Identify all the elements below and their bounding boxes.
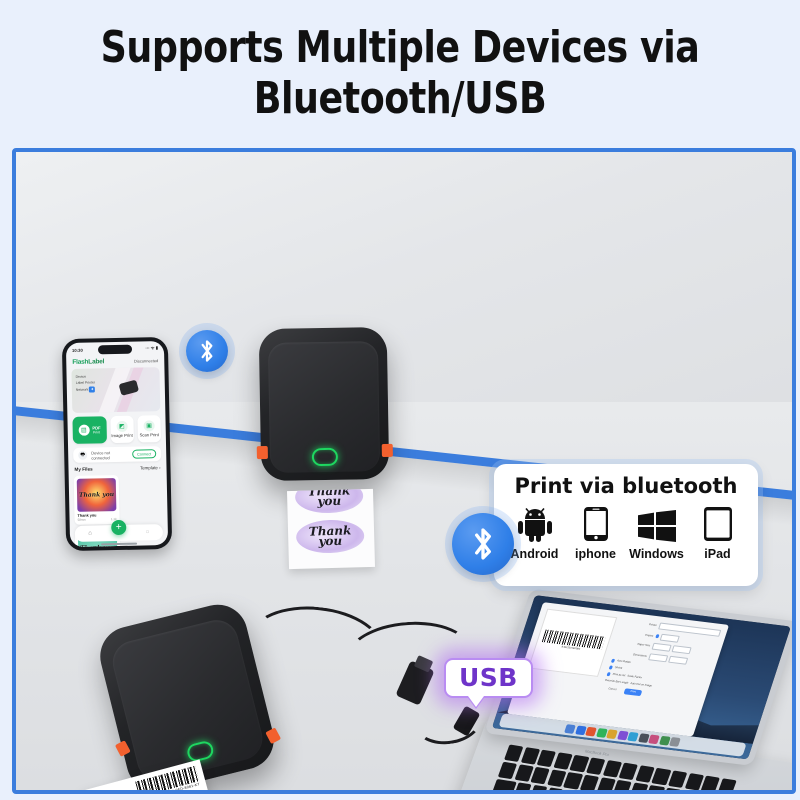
android-label: Android bbox=[511, 547, 559, 561]
app-brand-1: Flash bbox=[72, 358, 88, 365]
copies-input[interactable] bbox=[660, 633, 680, 642]
home-icon[interactable]: ⌂ bbox=[88, 531, 92, 537]
device-windows: Windows bbox=[628, 506, 686, 561]
supported-device-row: Android iphone bbox=[504, 506, 748, 561]
sticker-text: Thank you bbox=[296, 526, 364, 547]
note-left: Override Bar Length bbox=[604, 679, 628, 685]
dock-icon-music[interactable] bbox=[648, 734, 660, 744]
image-print-button[interactable]: ◩ Image Print bbox=[110, 416, 134, 443]
hero-text: Device Label Printer Network ✦ bbox=[76, 373, 96, 393]
radio-icon[interactable] bbox=[655, 634, 660, 638]
file-meta: 58mm 1.1k bbox=[78, 517, 117, 522]
sticker-text: Thank you bbox=[295, 489, 363, 507]
pdf-print-icon: ▤ bbox=[78, 425, 89, 436]
form-label: Copies bbox=[620, 630, 654, 637]
print-via-bluetooth-card: Print via bluetooth bbox=[494, 464, 758, 586]
app-hero-banner: Device Label Printer Network ✦ bbox=[71, 367, 160, 413]
list-item[interactable]: Thank you Thank you 58mm 1.1k bbox=[74, 475, 120, 525]
status-time: 10:30 bbox=[72, 347, 83, 352]
option-label: Print as Art bbox=[612, 673, 626, 677]
connect-button[interactable]: Connect bbox=[132, 449, 156, 459]
status-icons: ⋯ ᯤ ▮ bbox=[145, 345, 158, 351]
radio-icon[interactable] bbox=[606, 672, 611, 676]
printer-connect-text: Device not connected bbox=[91, 449, 128, 460]
print-button[interactable]: Print bbox=[624, 688, 643, 696]
photo-inner: 10:30 ⋯ ᯤ ▮ FlashLabel Disconnected bbox=[16, 152, 792, 790]
bluetooth-icon bbox=[452, 513, 514, 575]
file-thumbnail: Thank you bbox=[77, 478, 117, 512]
windows-label: Windows bbox=[629, 547, 684, 561]
phone-screen: 10:30 ⋯ ᯤ ▮ FlashLabel Disconnected bbox=[66, 341, 168, 547]
hero-line-3-row: Network ✦ bbox=[76, 386, 96, 393]
pdf-print-button[interactable]: ▤ PDF Print bbox=[72, 416, 106, 444]
smartphone: 10:30 ⋯ ᯤ ▮ FlashLabel Disconnected bbox=[62, 337, 172, 551]
my-files-label: My Files bbox=[74, 467, 92, 472]
photo-frame: 10:30 ⋯ ᯤ ▮ FlashLabel Disconnected bbox=[12, 148, 796, 794]
hero-line-3: Network bbox=[76, 388, 89, 392]
android-icon bbox=[517, 506, 553, 542]
scan-print-button[interactable]: ▣ Scan Print bbox=[137, 415, 161, 442]
usb-callout-bubble: USB bbox=[444, 658, 533, 698]
device-ipad: iPad bbox=[689, 506, 747, 561]
iphone-icon bbox=[583, 506, 609, 542]
note-right: Auto Cut on Image bbox=[630, 682, 653, 688]
windows-icon bbox=[638, 506, 676, 542]
app-action-row: ▤ PDF Print ◩ Image Print ▣ Sc bbox=[72, 415, 161, 444]
printer-top-face bbox=[108, 616, 267, 786]
printer-connect-row[interactable]: 🖶 Device not connected Connect bbox=[73, 446, 161, 463]
dock-icon-finder[interactable] bbox=[564, 724, 576, 734]
title-line-2: Bluetooth/USB bbox=[32, 73, 768, 124]
files-section-header: My Files Template › bbox=[74, 465, 160, 472]
laptop-screen: 8 901234 567894 Printer Copies bbox=[492, 595, 791, 759]
pdf-print-label: PDF Print bbox=[92, 425, 101, 435]
option-label: Scale Factor bbox=[627, 675, 642, 680]
dock-icon-mail[interactable] bbox=[585, 726, 597, 736]
connection-status-label: Disconnected bbox=[134, 358, 158, 364]
bluetooth-icon-small: ✦ bbox=[89, 386, 95, 392]
thumb-text: Thank you bbox=[80, 545, 115, 547]
bluetooth-card-heading: Print via bluetooth bbox=[504, 474, 748, 498]
label-printer-top bbox=[259, 327, 390, 481]
label-preview: 8 901234 567894 bbox=[528, 609, 617, 677]
device-iphone: iphone bbox=[567, 506, 625, 561]
dock-icon-safari[interactable] bbox=[627, 731, 639, 741]
page-title: Supports Multiple Devices via Bluetooth/… bbox=[32, 22, 768, 124]
file-size: 58mm bbox=[78, 518, 86, 522]
form-label: Printer bbox=[624, 620, 658, 627]
image-print-icon: ◩ bbox=[116, 421, 127, 432]
ipad-icon bbox=[703, 506, 733, 542]
printer-icon: 🖶 bbox=[78, 451, 87, 460]
dock-icon-notes[interactable] bbox=[606, 729, 618, 739]
app-brand-2: Label bbox=[88, 358, 104, 365]
image-print-label: Image Print bbox=[111, 433, 133, 439]
radio-icon[interactable] bbox=[611, 659, 616, 663]
radio-icon[interactable] bbox=[609, 665, 614, 669]
template-link[interactable]: Template › bbox=[140, 465, 161, 470]
paper-size-extra[interactable] bbox=[671, 645, 691, 654]
dock-icon-trash[interactable] bbox=[669, 737, 681, 747]
dimension-w[interactable] bbox=[648, 653, 668, 662]
printed-sticker-sheet: Thank you Thank you bbox=[287, 489, 375, 569]
print-dialog-window: 8 901234 567894 Printer Copies bbox=[507, 602, 729, 736]
sticker: Thank you bbox=[296, 519, 365, 554]
power-button[interactable] bbox=[312, 448, 338, 466]
ipad-label: iPad bbox=[704, 547, 730, 561]
device-android: Android bbox=[506, 506, 564, 561]
pdf-print-sub: Print bbox=[92, 430, 100, 434]
paper-tab-right bbox=[382, 444, 393, 457]
scan-print-label: Scan Print bbox=[139, 432, 158, 438]
paper-tab-left bbox=[257, 446, 268, 459]
app-logo: FlashLabel bbox=[72, 358, 104, 366]
form-label: Paper Size bbox=[617, 640, 651, 647]
option-label: Auto Rotate bbox=[616, 660, 631, 665]
dimension-h[interactable] bbox=[668, 655, 688, 664]
profile-icon[interactable]: ◌ bbox=[146, 529, 150, 535]
form-label: Dimensions bbox=[614, 650, 648, 657]
thumb-text: Thank you bbox=[79, 492, 114, 498]
app-header: FlashLabel Disconnected bbox=[66, 354, 164, 368]
cancel-button[interactable]: Cancel bbox=[601, 685, 623, 693]
poster-stage: Supports Multiple Devices via Bluetooth/… bbox=[0, 0, 800, 800]
title-line-1: Supports Multiple Devices via bbox=[32, 22, 768, 73]
iphone-label: iphone bbox=[575, 547, 616, 561]
sticker: Thank you bbox=[295, 489, 364, 514]
phone-notch bbox=[98, 345, 132, 355]
bluetooth-icon bbox=[186, 330, 228, 372]
option-label: Shrink bbox=[614, 666, 622, 670]
scan-print-icon: ▣ bbox=[143, 420, 154, 431]
usb-label: USB bbox=[459, 663, 518, 692]
paper-size-select[interactable] bbox=[651, 643, 671, 652]
